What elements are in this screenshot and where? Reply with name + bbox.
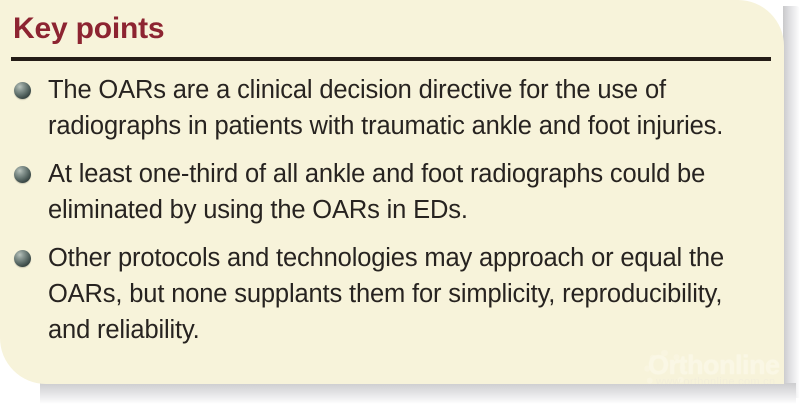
page-title: Key points <box>13 10 164 48</box>
key-points-list: The OARs are a clinical decision directi… <box>0 72 784 360</box>
key-points-figure: Key points The OARs are a clinical decis… <box>0 0 800 404</box>
list-item: At least one-third of all ankle and foot… <box>0 156 784 228</box>
title-divider <box>11 57 771 61</box>
sphere-bullet-icon <box>14 250 31 267</box>
list-item-text: At least one-third of all ankle and foot… <box>48 160 705 224</box>
key-points-panel: Key points The OARs are a clinical decis… <box>0 0 784 384</box>
list-item-text: The OARs are a clinical decision directi… <box>48 76 723 140</box>
list-item: The OARs are a clinical decision directi… <box>0 72 784 144</box>
list-item-text: Other protocols and technologies may app… <box>48 244 724 344</box>
panel-shadow-right <box>783 6 800 398</box>
list-item: Other protocols and technologies may app… <box>0 240 784 348</box>
panel-shadow-bottom <box>6 383 796 404</box>
watermark-url: www.orthonline.com.cn <box>656 376 775 384</box>
sphere-bullet-icon <box>14 166 31 183</box>
sphere-bullet-icon <box>14 82 31 99</box>
